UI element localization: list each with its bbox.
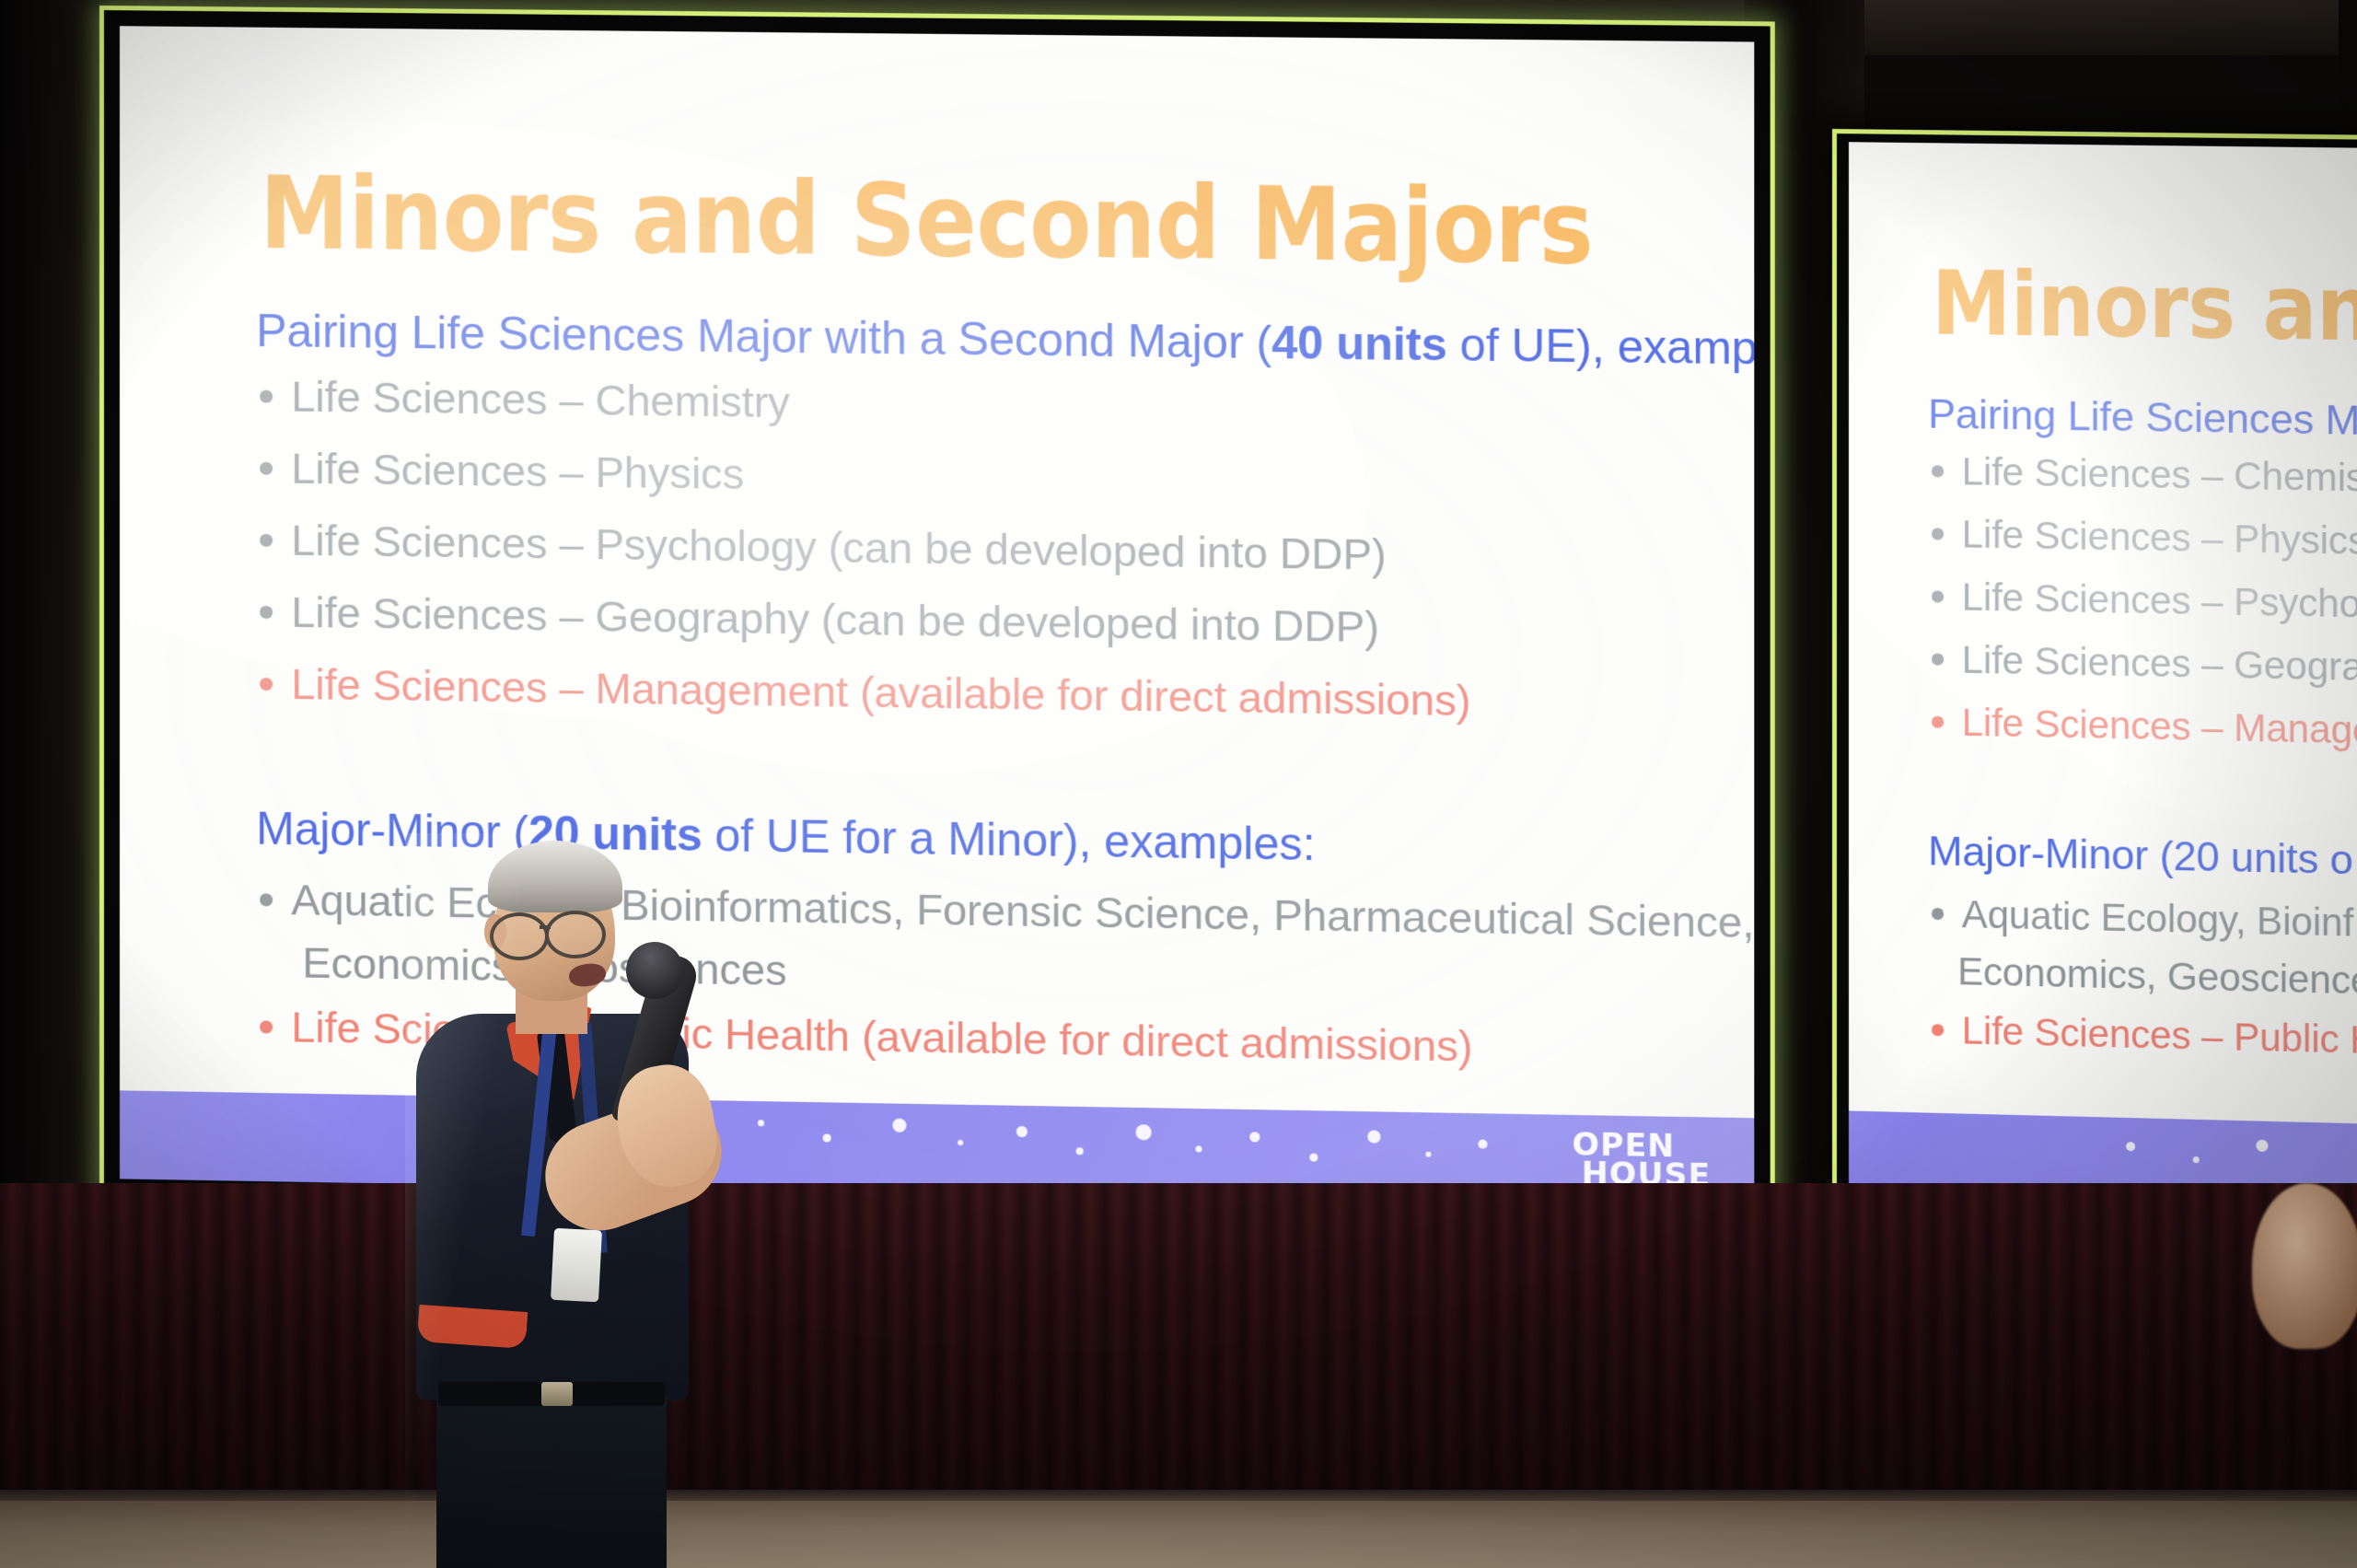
speaker-belt-buckle [541,1382,573,1406]
decorative-dot [2193,1156,2200,1163]
decorative-dot [1425,1152,1431,1157]
bullet-dot-icon [260,462,273,475]
decorative-dot [2256,1140,2268,1152]
section-two-lead-suffix: of UE for a Minor), examples: [702,809,1315,870]
section-one-lead-secondary: Pairing Life Sciences Maj [1928,390,2357,446]
bullet-dot-icon [260,678,273,691]
slide-title: Minors and Second Majors [260,157,1593,287]
bullet-dot-icon [1932,528,1944,540]
presentation-slide-main: Minors and Second Majors Pairing Life Sc… [120,26,1754,1207]
decorative-dot [1249,1132,1260,1142]
bullet-dot-icon [260,893,273,906]
bullet-item-highlight: Life Sciences – Manage [1932,700,2357,753]
bullet-item: Life Sciences – Physics [260,442,744,499]
bullet-label: Life Sciences – Public H [1962,1008,2357,1063]
bullet-item: Life Sciences – Psychology (can be devel… [260,514,1387,579]
section-one-lead-strong: 40 units [1271,317,1446,371]
slide-content: Minors and Second Majors Pairing Life Sc… [120,26,1754,1207]
decorative-dot [1076,1147,1084,1155]
bullet-dot-icon [1932,716,1944,728]
speaker-sleeve-trim [417,1305,528,1349]
decorative-dot [1367,1130,1380,1143]
section-one-lead-suffix: of UE), examples: [1447,319,1755,375]
decorative-dot [1016,1126,1028,1137]
projection-screen-secondary: Minors and Pairing Life Sciences Maj Lif… [1832,129,2357,1211]
bullet-label: Life Sciences – Psycholo [1962,575,2357,627]
decorative-dot [1478,1140,1487,1149]
section-two-lead-secondary: Major-Minor (20 units o [1928,827,2353,884]
projection-screen-main: Minors and Second Majors Pairing Life Sc… [99,6,1775,1228]
bullet-dot-icon [260,1020,273,1033]
bullet-item-highlight: Life Sciences – Public H [1932,1008,2357,1063]
bullet-label: Life Sciences – Geograp [1962,638,2357,691]
presentation-slide-secondary: Minors and Pairing Life Sciences Maj Lif… [1849,142,2357,1211]
slide-content-secondary: Minors and Pairing Life Sciences Maj Lif… [1849,142,2357,1211]
bullet-item: Life Sciences – Psycholo [1932,575,2357,627]
bullet-label: Life Sciences – Chemistry [291,371,789,428]
decorative-dot [1195,1145,1202,1152]
bullet-item: Aquatic Ecology, Bioinf [1932,891,2353,945]
decorative-dot [892,1119,906,1132]
open-house-logo: OPEN HOUSE [1573,1131,1712,1191]
bullet-label: Life Sciences – Manage [1962,701,2357,753]
decorative-dot [758,1120,764,1126]
decorative-dot [2126,1142,2135,1151]
decorative-dot [1309,1154,1318,1162]
speaker-eyeglass-bridge [540,925,551,929]
bullet-item-continuation: Economics, Geoscience [1957,949,2357,1004]
speaker-name-badge [551,1228,602,1303]
bullet-dot-icon [260,606,273,619]
bullet-dot-icon [1932,1024,1944,1036]
bullet-label: Life Sciences – Chemist [1962,449,2357,500]
decorative-dot [823,1133,831,1142]
audience-member-head [2252,1183,2357,1349]
decorative-dot [958,1140,963,1145]
bullet-item: Life Sciences – Geography (can be develo… [260,586,1379,652]
speaker-hair [488,841,622,912]
bullet-label: Life Sciences – Physics [291,443,744,499]
bullet-label: Life Sciences – Physics [1962,512,2357,563]
bullet-dot-icon [260,534,273,547]
bullet-label: Aquatic Ecology, Bioinf [1962,892,2353,946]
bullet-item-highlight: Life Sciences – Management (available fo… [260,657,1470,726]
bullet-dot-icon [1932,654,1944,666]
bullet-label: Life Sciences – Psychology (can be devel… [291,515,1386,580]
bullet-label: Life Sciences – Management (available fo… [291,658,1470,726]
slide-title-secondary: Minors and [1932,251,2357,362]
bullet-dot-icon [1932,908,1944,920]
bullet-item: Life Sciences – Physics [1932,512,2357,563]
floor [0,1501,2357,1568]
bullet-dot-icon [1932,591,1944,603]
speaker-legs [436,1386,667,1568]
bullet-item: Life Sciences – Chemist [1932,449,2357,501]
speaker-eyeglass-right [545,911,606,958]
section-one-lead: Pairing Life Sciences Major with a Secon… [256,304,1754,376]
bullet-dot-icon [260,390,273,403]
decorative-dot [1136,1124,1152,1140]
bullet-item: Life Sciences – Geograp [1932,637,2357,690]
stage-curtain [0,1183,2357,1505]
presentation-room: Minors and Second Majors Pairing Life Sc… [0,0,2357,1568]
section-one-lead-prefix: Pairing Life Sciences Major with a Secon… [256,305,1271,368]
bullet-label-continuation: Economics, Geoscience [1957,949,2357,1004]
speaker-presenter [405,833,709,1568]
speaker-eyeglass-left [490,912,549,960]
bullet-label: Life Sciences – Geography (can be develo… [291,587,1379,652]
bullet-item: Life Sciences – Chemistry [260,370,790,427]
bullet-dot-icon [1932,466,1944,478]
